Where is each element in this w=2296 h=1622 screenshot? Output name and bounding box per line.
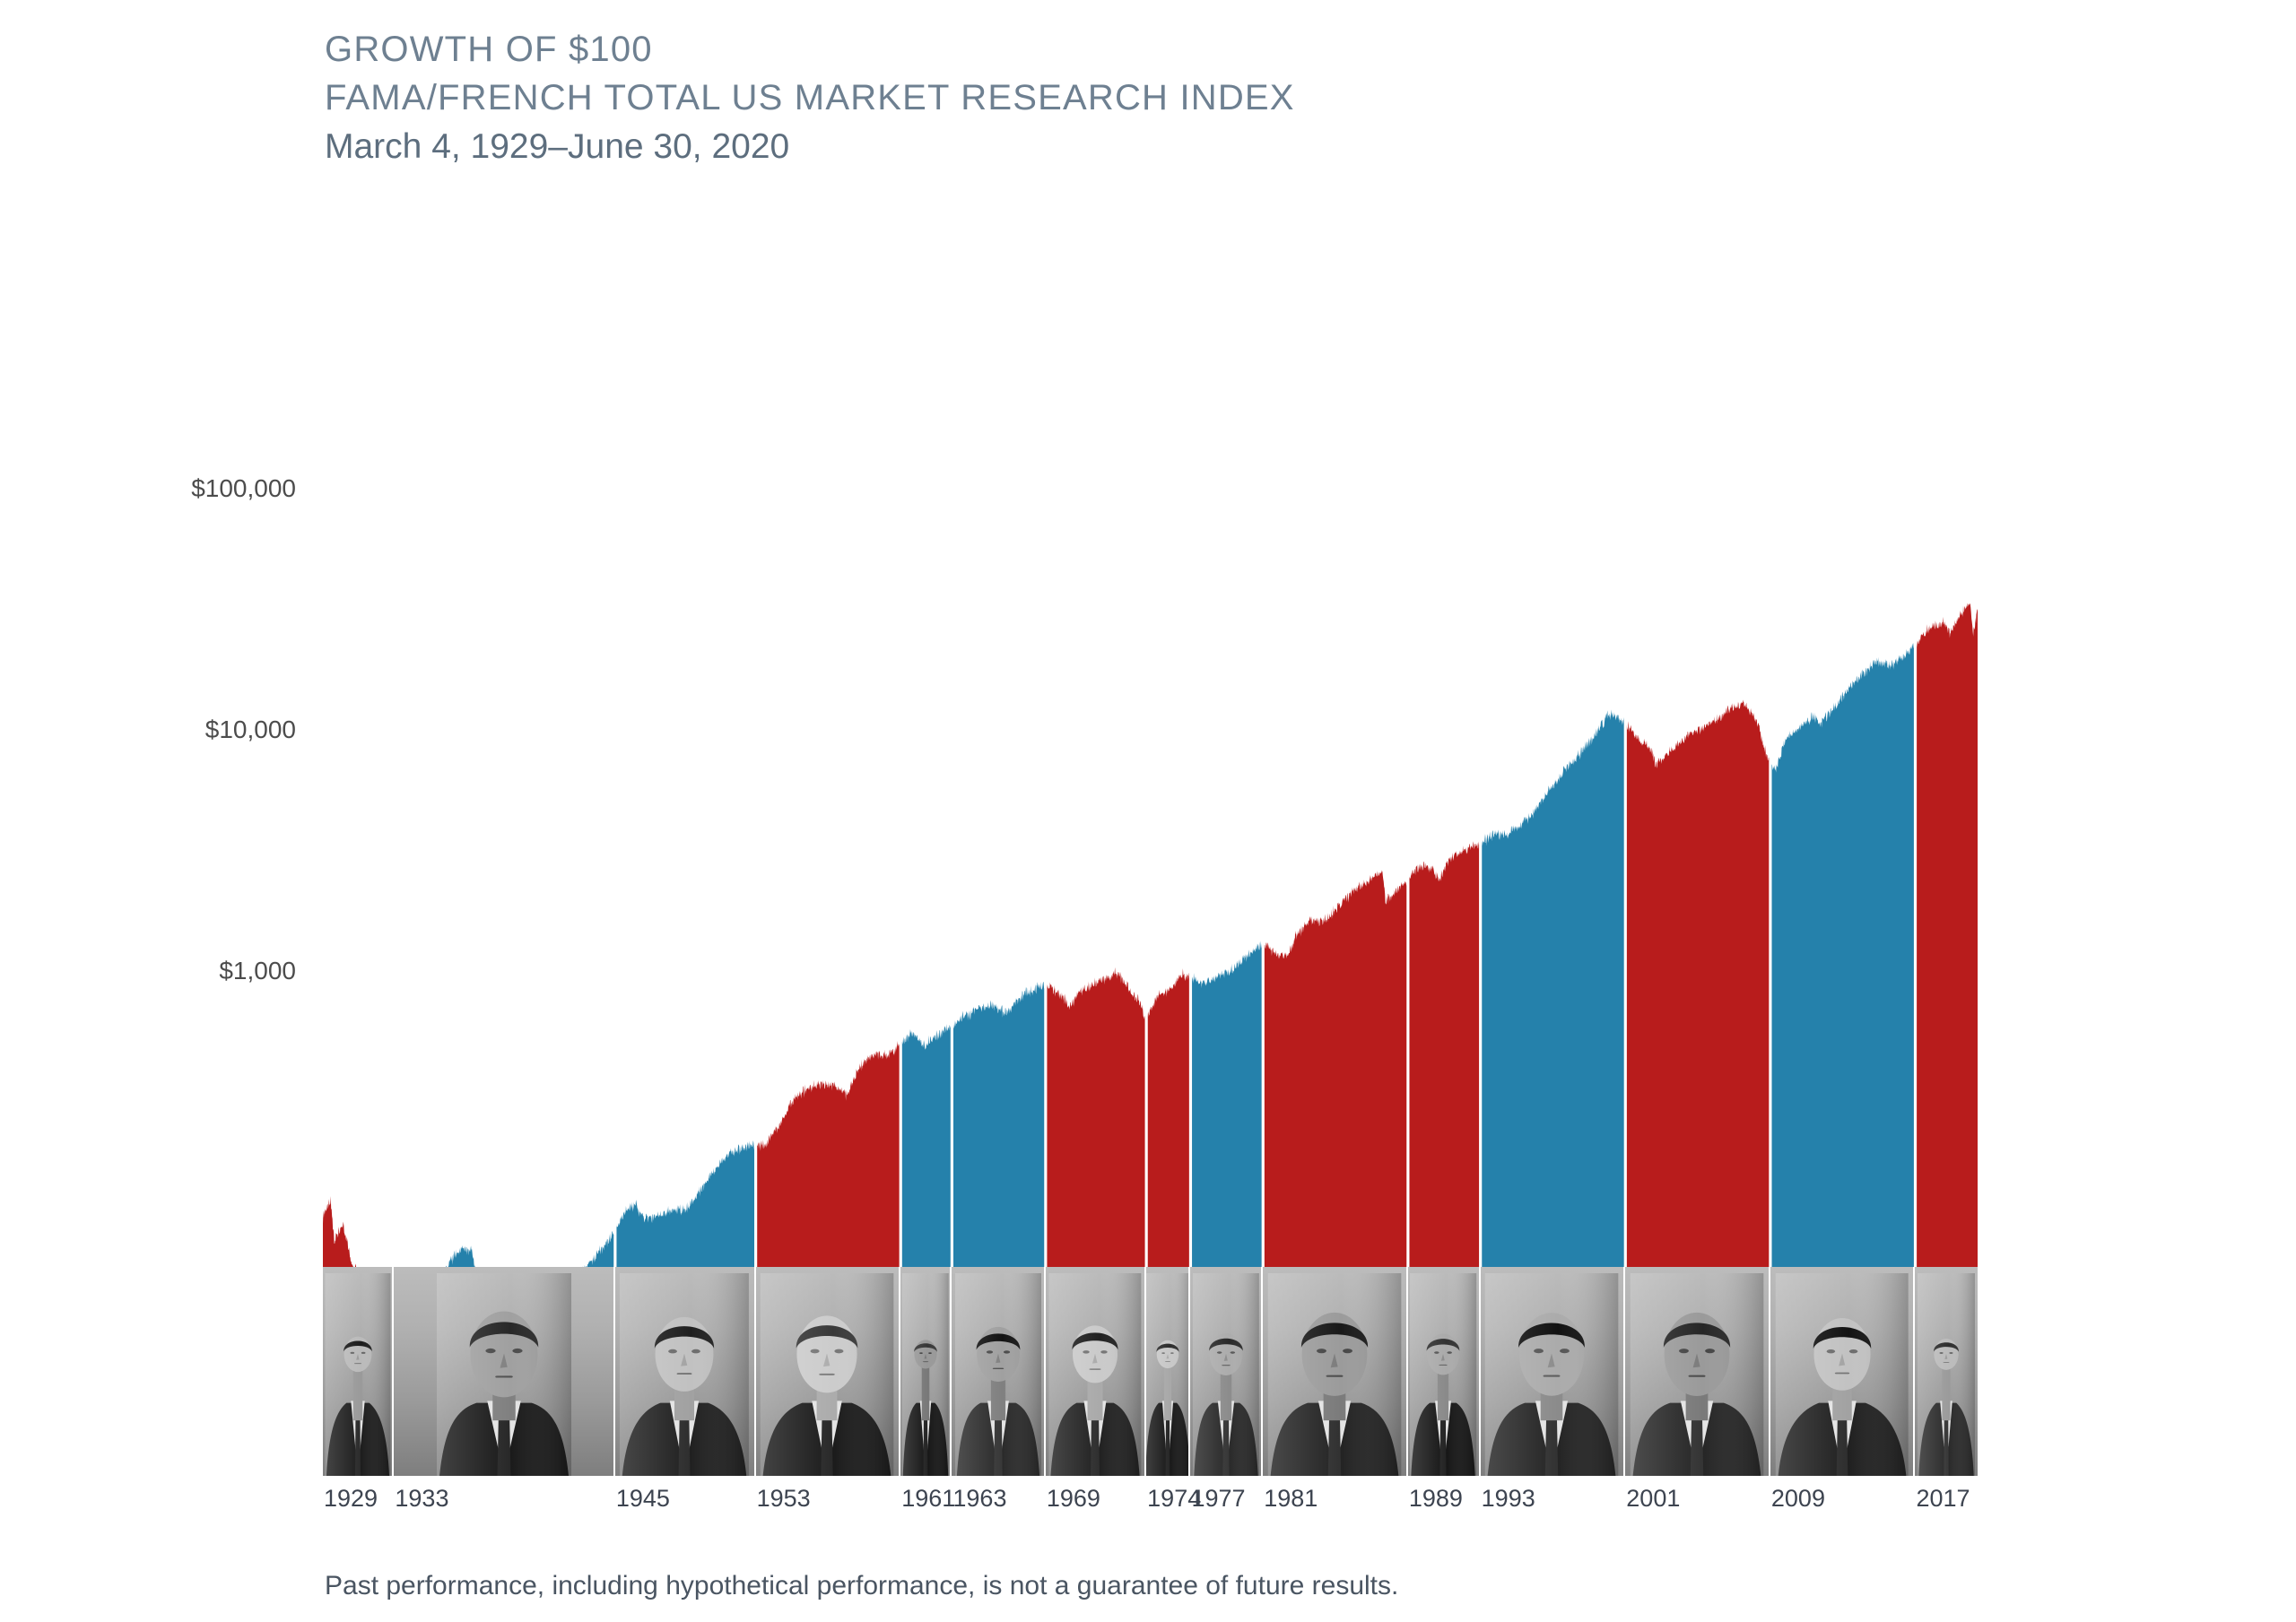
y-tick-label: $100,000 bbox=[99, 474, 296, 503]
x-axis: 1929193319451953196119631969197419771981… bbox=[0, 1485, 2296, 1524]
portrait-cell-reagan-portrait[interactable] bbox=[1263, 1267, 1408, 1476]
portrait-cell-obama-portrait[interactable] bbox=[1770, 1267, 1916, 1476]
x-tick-label: 2017 bbox=[1917, 1485, 1970, 1513]
portrait-cell-truman-portrait[interactable] bbox=[615, 1267, 756, 1476]
area-segment-obama bbox=[1770, 642, 1916, 1268]
president-portrait-figure bbox=[1268, 1273, 1402, 1476]
area-segment-hoover bbox=[323, 1196, 394, 1268]
area-segment-truman bbox=[615, 1140, 756, 1268]
segment-divider bbox=[1044, 260, 1047, 1268]
portrait-cell-ford-portrait[interactable] bbox=[1146, 1267, 1190, 1476]
portrait-cell-clinton-portrait[interactable] bbox=[1481, 1267, 1626, 1476]
segment-divider bbox=[1624, 260, 1627, 1268]
x-tick-label: 2001 bbox=[1626, 1485, 1680, 1513]
x-tick-label: 2009 bbox=[1771, 1485, 1825, 1513]
area-segment-g-w-bush bbox=[1625, 699, 1770, 1268]
x-tick-label: 1993 bbox=[1482, 1485, 1535, 1513]
segment-divider bbox=[754, 260, 757, 1268]
area-segment-roosevelt bbox=[394, 1229, 614, 1268]
portrait-cell-hoover-portrait[interactable] bbox=[323, 1267, 394, 1476]
president-portrait-figure bbox=[620, 1273, 749, 1476]
x-tick-label: 1929 bbox=[324, 1485, 378, 1513]
president-portrait-figure bbox=[437, 1273, 571, 1476]
president-portrait-figure bbox=[1918, 1273, 1975, 1476]
x-tick-label: 1953 bbox=[757, 1485, 811, 1513]
area-segment-trump bbox=[1916, 603, 1978, 1268]
segment-divider bbox=[951, 260, 953, 1268]
segment-divider bbox=[1406, 260, 1409, 1268]
growth-of-100-chart: $1,000$10,000$100,000 bbox=[0, 0, 2296, 1622]
area-segment-g-h-w-bush bbox=[1408, 838, 1481, 1268]
president-portrait-figure bbox=[1146, 1273, 1190, 1476]
portrait-cell-eisenhower-portrait[interactable] bbox=[756, 1267, 901, 1476]
x-tick-label: 1977 bbox=[1191, 1485, 1245, 1513]
president-portrait-figure bbox=[325, 1273, 390, 1476]
portrait-cell-roosevelt-portrait[interactable] bbox=[394, 1267, 614, 1476]
x-tick-label: 1989 bbox=[1409, 1485, 1463, 1513]
president-portrait-figure bbox=[1485, 1273, 1619, 1476]
x-tick-label: 1933 bbox=[395, 1485, 448, 1513]
president-portrait-figure bbox=[761, 1273, 894, 1476]
x-tick-label: 1961 bbox=[901, 1485, 955, 1513]
segment-divider bbox=[393, 260, 396, 1268]
president-portrait-band bbox=[323, 1267, 1978, 1476]
segment-divider bbox=[1914, 260, 1917, 1268]
y-tick-label: $10,000 bbox=[99, 716, 296, 744]
portrait-cell-johnson-portrait[interactable] bbox=[952, 1267, 1045, 1476]
president-portrait-figure bbox=[1048, 1273, 1141, 1476]
disclaimer-footnote: Past performance, including hypothetical… bbox=[325, 1571, 1398, 1601]
president-portrait-figure bbox=[955, 1273, 1041, 1476]
area-segment-kennedy bbox=[900, 1021, 952, 1268]
portrait-cell-ghw-bush-portrait[interactable] bbox=[1408, 1267, 1481, 1476]
area-segment-clinton bbox=[1481, 709, 1626, 1268]
area-segment-nixon bbox=[1046, 967, 1146, 1268]
x-tick-label: 1945 bbox=[616, 1485, 670, 1513]
president-portrait-figure bbox=[1631, 1273, 1764, 1476]
portrait-cell-kennedy-portrait[interactable] bbox=[900, 1267, 952, 1476]
portrait-cell-gw-bush-portrait[interactable] bbox=[1625, 1267, 1770, 1476]
president-portrait-figure bbox=[901, 1273, 949, 1476]
area-segment-johnson bbox=[952, 980, 1045, 1268]
area-segment-ford bbox=[1146, 968, 1190, 1268]
segment-divider bbox=[1262, 260, 1265, 1268]
x-tick-label: 1969 bbox=[1047, 1485, 1100, 1513]
president-portrait-figure bbox=[1410, 1273, 1476, 1476]
president-portrait-figure bbox=[1775, 1273, 1909, 1476]
area-segment-eisenhower bbox=[756, 1040, 901, 1268]
portrait-cell-trump-portrait[interactable] bbox=[1915, 1267, 1977, 1476]
segment-divider bbox=[1145, 260, 1148, 1268]
portrait-cell-carter-portrait[interactable] bbox=[1190, 1267, 1263, 1476]
segment-divider bbox=[1189, 260, 1192, 1268]
x-tick-label: 1981 bbox=[1264, 1485, 1318, 1513]
area-chart-plot bbox=[323, 260, 1978, 1268]
segment-divider bbox=[900, 260, 902, 1268]
president-portrait-figure bbox=[1193, 1273, 1259, 1476]
segment-divider bbox=[1479, 260, 1482, 1268]
segment-divider bbox=[1769, 260, 1771, 1268]
x-tick-label: 1963 bbox=[952, 1485, 1006, 1513]
area-segment-carter bbox=[1190, 941, 1263, 1268]
y-tick-label: $1,000 bbox=[99, 957, 296, 985]
area-segment-reagan bbox=[1263, 870, 1408, 1268]
segment-divider bbox=[613, 260, 616, 1268]
portrait-cell-nixon-portrait[interactable] bbox=[1046, 1267, 1146, 1476]
